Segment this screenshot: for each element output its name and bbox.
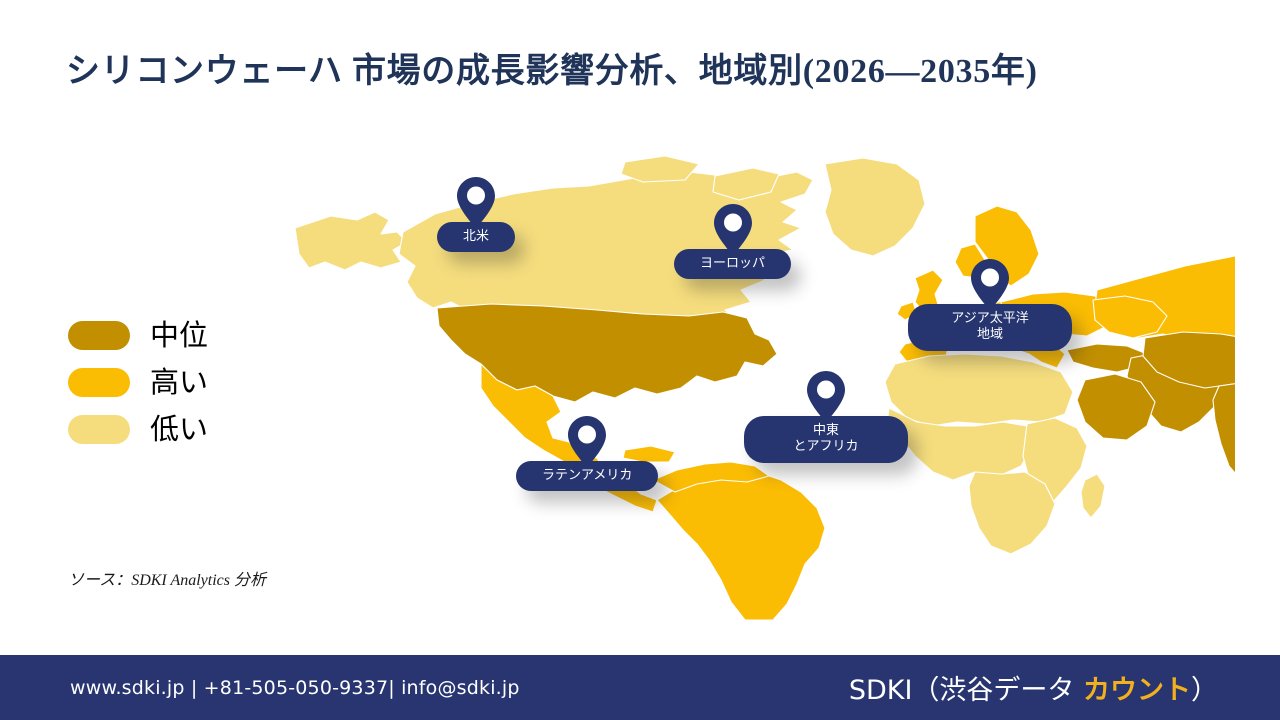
page-title: シリコンウェーハ 市場の成長影響分析、地域別(2026—2035年) bbox=[66, 52, 1226, 93]
region-hudson-islands bbox=[621, 156, 699, 182]
legend-item-low: 低い bbox=[68, 406, 308, 452]
legend-swatch-low bbox=[68, 415, 130, 444]
footer-brand-accent: カウント bbox=[1083, 675, 1191, 706]
marker-europe[interactable]: ヨーロッパ bbox=[674, 203, 791, 279]
map-pin-icon bbox=[970, 258, 1010, 317]
legend-label-low: 低い bbox=[150, 415, 208, 444]
marker-latin-america[interactable]: ラテンアメリカ bbox=[516, 415, 658, 491]
source-note: ソース：SDKI Analytics 分析 bbox=[68, 566, 266, 590]
legend-swatch-medium bbox=[68, 321, 130, 350]
map-pin-icon bbox=[456, 176, 496, 235]
legend-label-high: 高い bbox=[150, 368, 208, 397]
region-alaska bbox=[295, 212, 407, 270]
legend-item-high: 高い bbox=[68, 359, 308, 405]
marker-asia-pacific[interactable]: アジア太平洋 地域 bbox=[908, 258, 1072, 351]
footer-brand-prefix: SDKI（渋谷データ bbox=[849, 675, 1083, 706]
map-pin-icon bbox=[567, 415, 607, 474]
legend-swatch-high bbox=[68, 368, 130, 397]
footer-brand: SDKI（渋谷データ カウント） bbox=[849, 668, 1218, 707]
footer-brand-suffix: ） bbox=[1191, 675, 1218, 706]
region-north-africa bbox=[885, 354, 1073, 426]
world-map-container: 北米 ヨーロッパ アジア太平洋 地域 中東 とアフリカ ラテンアメリカ bbox=[285, 150, 1235, 620]
map-pin-icon bbox=[806, 370, 846, 429]
region-southern-africa bbox=[969, 472, 1055, 554]
region-india bbox=[1213, 382, 1235, 480]
legend-item-medium: 中位 bbox=[68, 312, 308, 358]
map-legend: 中位 高い 低い bbox=[68, 312, 308, 453]
map-pin-icon bbox=[713, 203, 753, 262]
footer-contact-info[interactable]: www.sdki.jp | +81-505-050-9337| info@sdk… bbox=[70, 677, 520, 699]
legend-label-medium: 中位 bbox=[150, 321, 208, 350]
marker-middle-east-africa[interactable]: 中東 とアフリカ bbox=[744, 370, 908, 463]
footer-bar: www.sdki.jp | +81-505-050-9337| info@sdk… bbox=[0, 655, 1280, 720]
region-madagascar bbox=[1081, 474, 1105, 518]
marker-north-america[interactable]: 北米 bbox=[437, 176, 515, 252]
region-south-america bbox=[657, 474, 825, 620]
region-greenland bbox=[825, 158, 925, 256]
